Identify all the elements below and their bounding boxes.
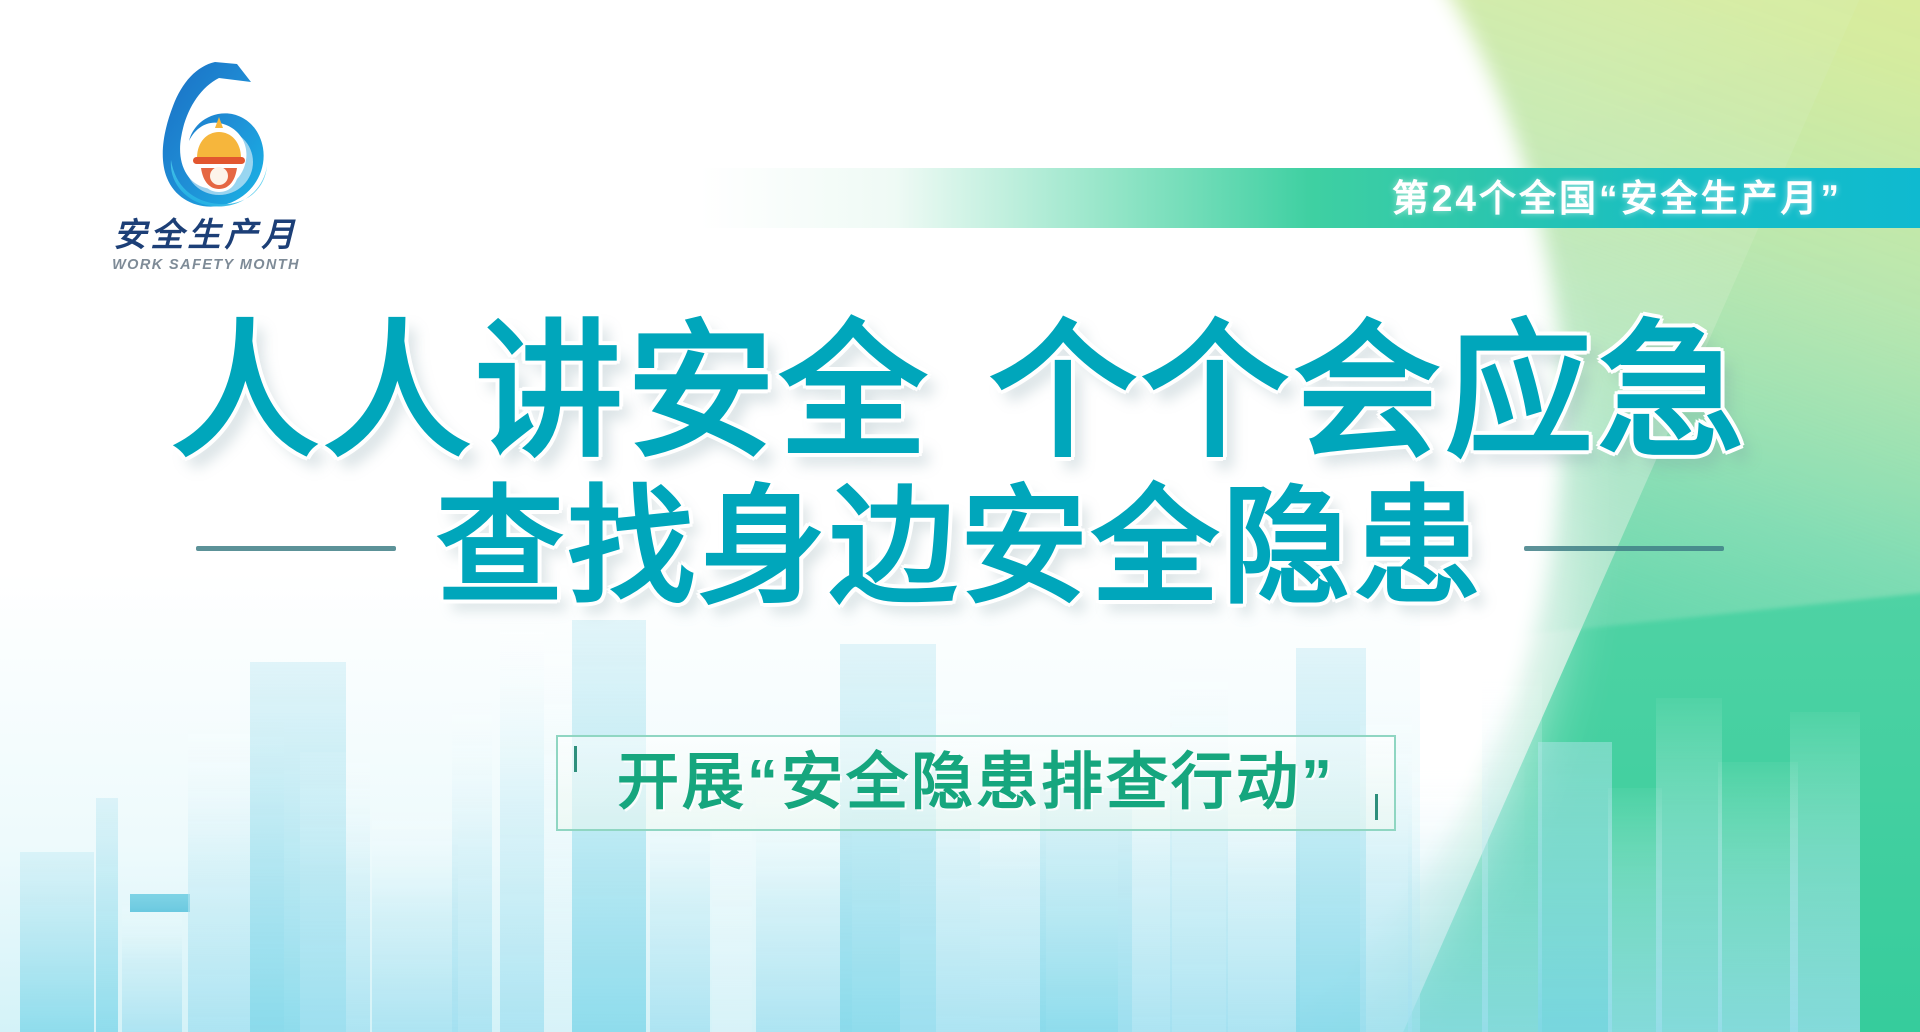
skyline-building	[1296, 648, 1366, 1032]
headline-line-2-row: 查找身边安全隐患	[0, 481, 1920, 615]
skyline-building	[1538, 742, 1612, 1032]
subtitle-text: 开展“安全隐患排查行动”	[617, 752, 1335, 814]
work-safety-month-logo: 安全生产月 WORK SAFETY MONTH	[86, 54, 326, 290]
logo-title-en: WORK SAFETY MONTH	[86, 258, 326, 273]
skyline-building	[1656, 698, 1722, 1032]
headline-line-2: 查找身边安全隐患	[436, 481, 1484, 615]
skyline-building	[1408, 762, 1488, 1032]
skyline-building	[1482, 672, 1542, 1032]
decorative-rule-left	[196, 546, 396, 551]
edition-banner-text: 第24个全国“安全生产月”	[1392, 180, 1842, 217]
edition-banner: 第24个全国“安全生产月”	[700, 168, 1920, 228]
skyline-building	[452, 702, 492, 1032]
skyline-building	[1170, 668, 1228, 1032]
skyline-building	[130, 894, 190, 912]
skyline-building	[122, 902, 182, 1032]
skyline-building	[1718, 762, 1798, 1032]
skyline-building	[500, 616, 544, 1032]
subtitle-frame: 开展“安全隐患排查行动”	[556, 735, 1396, 831]
skyline-building	[300, 752, 370, 1032]
skyline-building	[20, 852, 94, 1032]
logo-mark-6-icon	[119, 54, 294, 214]
headline-line-1: 人人讲安全个个会应急	[0, 318, 1920, 469]
skyline-building	[1608, 788, 1662, 1032]
headline-phrase-1: 人人讲安全	[171, 310, 931, 475]
headline-phrase-2: 个个会应急	[989, 310, 1749, 475]
skyline-building	[1790, 712, 1860, 1032]
decorative-rule-right	[1524, 546, 1724, 551]
skyline-building	[96, 798, 118, 1032]
skyline-building	[372, 812, 458, 1032]
logo-title-cn: 安全生产月	[86, 218, 326, 251]
headline-block: 人人讲安全个个会应急 查找身边安全隐患	[0, 318, 1920, 615]
poster-root: 安全生产月 WORK SAFETY MONTH 第24个全国“安全生产月” 人人…	[0, 0, 1920, 1032]
